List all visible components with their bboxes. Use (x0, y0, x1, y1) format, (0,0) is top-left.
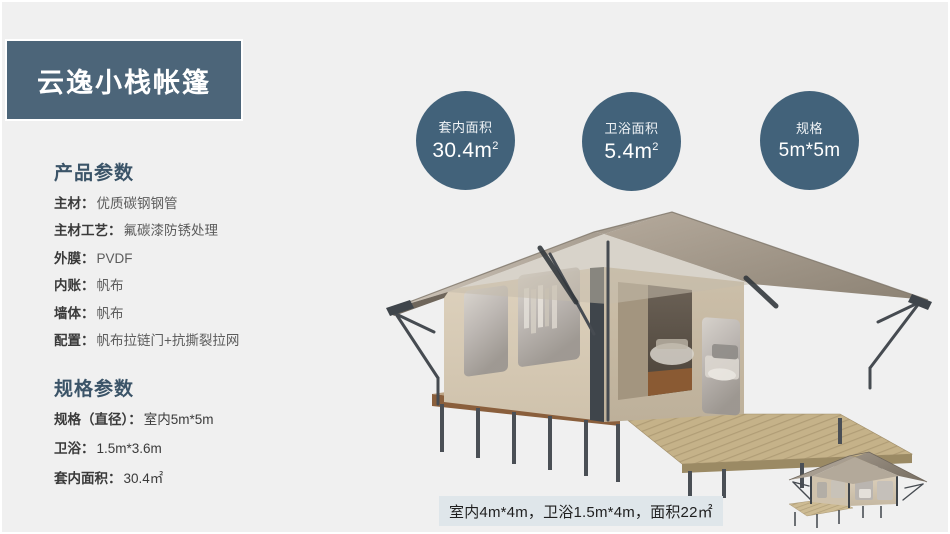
slide-canvas: 云逸小栈帐篷 产品参数 主材：优质碳钢钢管 主材工艺：氟碳漆防锈处理 外膜：PV… (0, 0, 950, 534)
spec-group-specification: 规格参数 规格（直径）：室内5m*5m 卫浴：1.5m*3.6m 套内面积：30… (54, 380, 354, 485)
spec-row: 主材：优质碳钢钢管 (54, 197, 354, 211)
spec-list-specification: 规格（直径）：室内5m*5m 卫浴：1.5m*3.6m 套内面积：30.4㎡ (54, 413, 354, 486)
stat-caption: 规格 (796, 122, 823, 135)
stat-value: 5m*5m (779, 141, 841, 160)
page-title: 云逸小栈帐篷 (37, 61, 211, 100)
stat-value: 5.4m2 (604, 141, 658, 162)
stat-unit: m (474, 139, 492, 162)
spec-label: 内账： (54, 278, 95, 293)
stat-circle-bathroom-area: 卫浴面积 5.4m2 (582, 92, 681, 191)
spec-label: 配置： (54, 333, 95, 348)
spec-row: 外膜：PVDF (54, 252, 354, 266)
title-banner: 云逸小栈帐篷 (5, 39, 243, 121)
spec-label: 墙体： (54, 306, 95, 321)
caption-text: 室内4m*4m，卫浴1.5m*4m，面积22㎡ (449, 501, 713, 522)
stat-number: 5.4 (604, 140, 634, 163)
spec-value: 1.5m*3.6m (97, 441, 162, 456)
spec-label: 规格（直径）： (54, 412, 142, 427)
spec-value: 帆布 (97, 306, 124, 321)
stat-superscript: 2 (652, 141, 658, 153)
spec-value: PVDF (97, 251, 133, 266)
spec-panel: 产品参数 主材：优质碳钢钢管 主材工艺：氟碳漆防锈处理 外膜：PVDF 内账：帆… (54, 164, 354, 501)
spec-label: 套内面积： (54, 471, 122, 486)
spec-label: 卫浴： (54, 441, 95, 456)
stat-circle-interior-area: 套内面积 30.4m2 (416, 91, 515, 190)
stat-number: 30.4 (432, 139, 474, 162)
spec-row: 套内面积：30.4㎡ (54, 472, 354, 486)
spec-label: 外膜： (54, 251, 95, 266)
stat-number: 5m*5m (779, 140, 841, 161)
stat-circle-dimensions: 规格 5m*5m (760, 91, 859, 190)
tent-thumbnail-svg (777, 442, 947, 534)
spec-value: 30.4㎡ (124, 471, 164, 486)
caption-bar: 室内4m*4m，卫浴1.5m*4m，面积22㎡ (439, 496, 723, 526)
stat-superscript: 2 (492, 140, 498, 152)
spec-label: 主材工艺： (54, 223, 122, 238)
stat-value: 30.4m2 (432, 140, 498, 161)
spec-row: 配置：帆布拉链门+抗撕裂拉网 (54, 334, 354, 348)
spec-value: 优质碳钢钢管 (97, 196, 178, 211)
section-heading-specification: 规格参数 (54, 380, 354, 401)
spec-value: 帆布拉链门+抗撕裂拉网 (97, 333, 240, 348)
spec-value: 氟碳漆防锈处理 (124, 223, 219, 238)
section-heading-product: 产品参数 (54, 164, 354, 185)
spec-row: 规格（直径）：室内5m*5m (54, 413, 354, 427)
spec-row: 墙体：帆布 (54, 307, 354, 321)
spec-group-product: 产品参数 主材：优质碳钢钢管 主材工艺：氟碳漆防锈处理 外膜：PVDF 内账：帆… (54, 164, 354, 348)
spec-value: 室内5m*5m (144, 412, 214, 427)
spec-row: 卫浴：1.5m*3.6m (54, 442, 354, 456)
spec-label: 主材： (54, 196, 95, 211)
spec-list-product: 主材：优质碳钢钢管 主材工艺：氟碳漆防锈处理 外膜：PVDF 内账：帆布 墙体：… (54, 197, 354, 348)
stat-circle-group: 套内面积 30.4m2 卫浴面积 5.4m2 规格 5m*5m (416, 91, 876, 191)
spec-value: 帆布 (97, 278, 124, 293)
stat-unit: m (634, 140, 652, 163)
stat-caption: 卫浴面积 (604, 122, 658, 135)
spec-row: 内账：帆布 (54, 279, 354, 293)
tent-thumbnail[interactable] (777, 442, 947, 534)
stat-caption: 套内面积 (438, 121, 492, 134)
spec-row: 主材工艺：氟碳漆防锈处理 (54, 224, 354, 238)
